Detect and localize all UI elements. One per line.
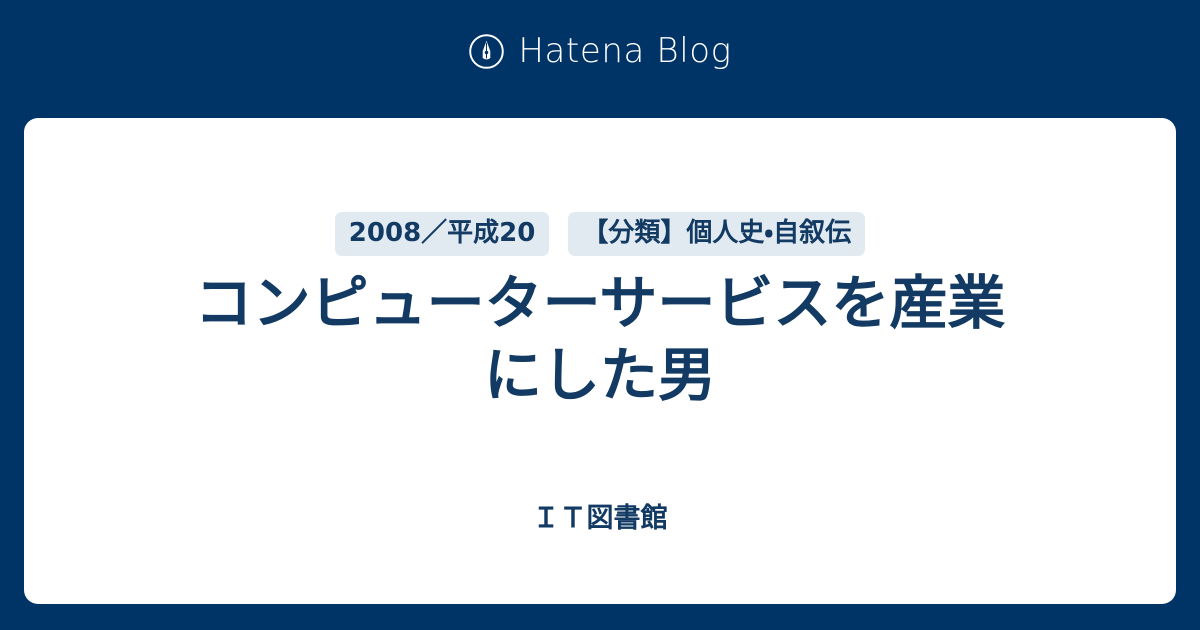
entry-card-body: 2008／平成20 【分類】個人史・自叙伝 コンピューターサービスを産業にした男 — [24, 118, 1176, 505]
brand-header: Hatena Blog — [0, 0, 1200, 118]
hatena-pen-nib-icon-svg — [468, 33, 505, 70]
tag-item-year[interactable]: 2008／平成20 — [335, 212, 550, 256]
entry-title: コンピューターサービスを産業にした男 — [180, 268, 1020, 412]
brand-name: Hatena Blog — [518, 34, 731, 68]
tag-item-category[interactable]: 【分類】個人史・自叙伝 — [568, 212, 865, 256]
entry-card: 2008／平成20 【分類】個人史・自叙伝 コンピューターサービスを産業にした男… — [24, 118, 1176, 604]
hatena-pen-nib-icon — [468, 33, 505, 70]
tag-list: 2008／平成20 【分類】個人史・自叙伝 — [335, 212, 865, 256]
blog-title: ＩＴ図書館 — [533, 505, 668, 604]
